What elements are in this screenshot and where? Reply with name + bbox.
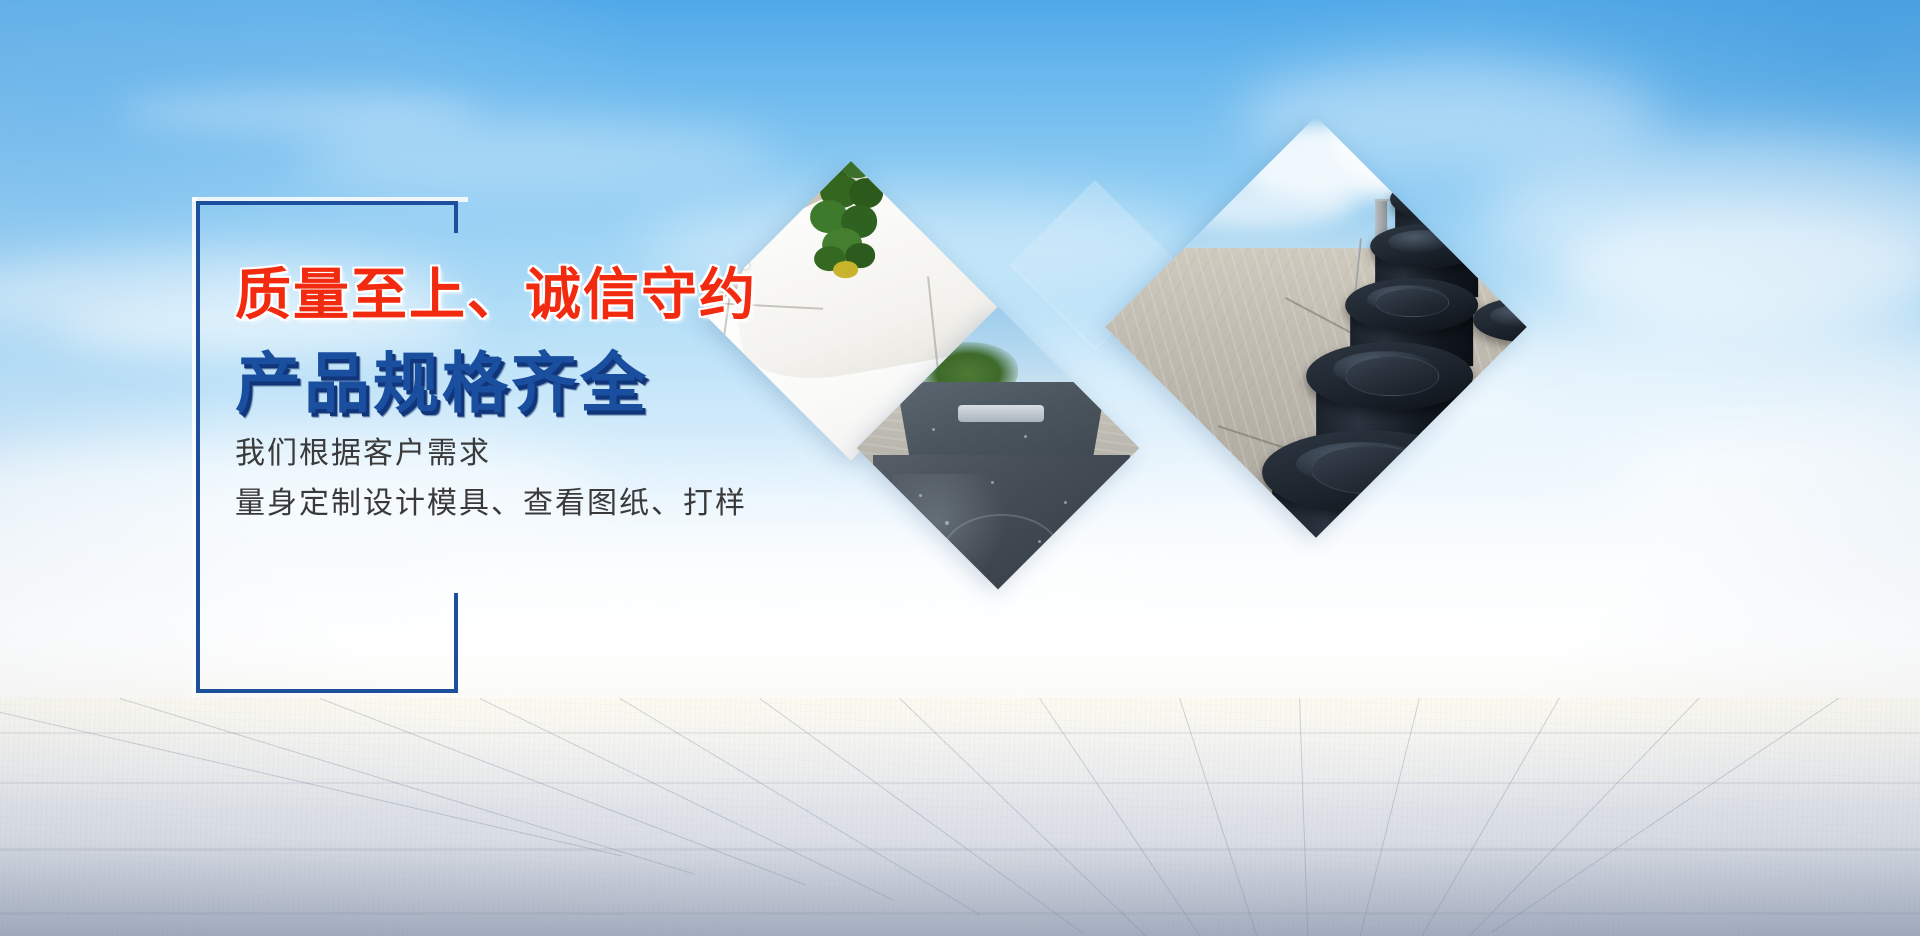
- plaza-ground: [0, 698, 1920, 936]
- headline-red: 质量至上、诚信守约: [235, 250, 757, 331]
- promo-banner: 质量至上、诚信守约 产品规格齐全 我们根据客户需求 量身定制设计模具、查看图纸、…: [0, 0, 1920, 936]
- headline-blue: 产品规格齐全: [235, 330, 649, 426]
- frame-bottom-edge: [196, 689, 458, 693]
- body-text-line-2: 量身定制设计模具、查看图纸、打样: [235, 478, 747, 522]
- cloud: [300, 120, 780, 190]
- frame-right-top-stub: [454, 201, 458, 233]
- ground-shadow: [0, 840, 1920, 936]
- frame-left-edge: [196, 201, 200, 693]
- frame-right-bottom-stub: [454, 593, 458, 693]
- frame-top-edge: [196, 201, 458, 205]
- body-text-line-1: 我们根据客户需求: [235, 428, 491, 472]
